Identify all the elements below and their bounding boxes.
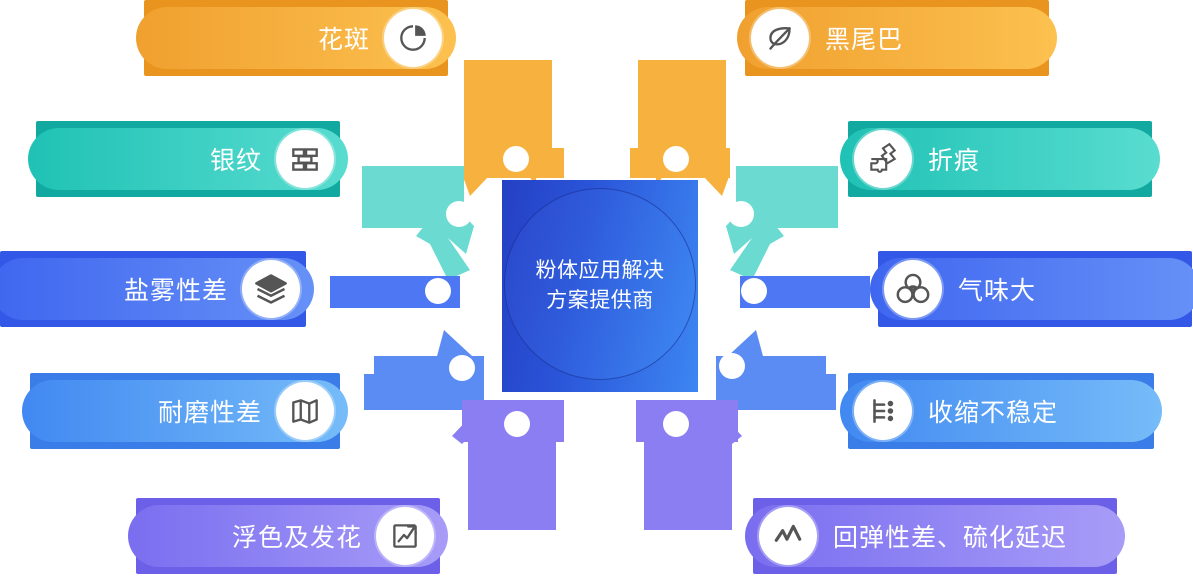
node-pill[interactable]: 折痕 — [840, 128, 1160, 190]
connector-fu-se — [452, 400, 564, 530]
node-pill[interactable]: 耐磨性差 — [22, 380, 348, 442]
node-pill[interactable]: 浮色及发花 — [128, 505, 448, 567]
node-label: 气味大 — [958, 271, 1036, 307]
node-label: 盐雾性差 — [124, 271, 228, 307]
node-fu-se-ji-fa-hua[interactable]: 浮色及发花 — [128, 505, 448, 567]
diagram-canvas: 粉体应用解决 方案提供商 花斑 黑尾巴 — [0, 0, 1193, 577]
connector-yin-wen — [362, 166, 474, 280]
connector-nai-mo — [364, 330, 484, 410]
node-pill[interactable]: 盐雾性差 — [0, 258, 314, 320]
node-yan-wu-xing-cha[interactable]: 盐雾性差 — [0, 258, 314, 320]
node-label: 花斑 — [318, 20, 370, 56]
node-pill[interactable]: 花斑 — [136, 7, 456, 69]
pie-chart-icon — [384, 9, 442, 67]
node-yin-wen[interactable]: 银纹 — [28, 128, 348, 190]
connector-hui-tan — [636, 400, 742, 530]
node-zhe-hen[interactable]: 折痕 — [840, 128, 1160, 190]
node-label: 折痕 — [928, 141, 980, 177]
node-hua-ban[interactable]: 花斑 — [136, 7, 456, 69]
node-pill[interactable]: 气味大 — [870, 258, 1193, 320]
line-chart-icon — [759, 507, 817, 565]
layers-icon — [242, 260, 300, 318]
node-shou-suo-bu-wen-ding[interactable]: 收缩不稳定 — [840, 380, 1162, 442]
connector-hua-ban — [462, 60, 564, 196]
puzzle-icon — [854, 130, 912, 188]
node-label: 银纹 — [210, 141, 262, 177]
leaf-icon — [751, 9, 809, 67]
connector-qi-wei — [740, 276, 870, 308]
trend-box-icon — [376, 507, 434, 565]
node-label: 耐磨性差 — [158, 393, 262, 429]
sitemap-icon — [854, 382, 912, 440]
center-node[interactable]: 粉体应用解决 方案提供商 — [502, 180, 698, 392]
connector-shou-suo — [716, 330, 836, 410]
node-label: 回弹性差、硫化延迟 — [833, 518, 1067, 554]
node-qi-wei-da[interactable]: 气味大 — [870, 258, 1193, 320]
brick-wall-icon — [276, 130, 334, 188]
node-hui-tan-xing-cha[interactable]: 回弹性差、硫化延迟 — [745, 505, 1125, 567]
node-nai-mo-xing-cha[interactable]: 耐磨性差 — [22, 380, 348, 442]
connector-yan-wu — [330, 276, 460, 308]
node-label: 浮色及发花 — [232, 518, 362, 554]
center-label: 粉体应用解决 方案提供商 — [502, 256, 698, 316]
connector-hei-wei-ba — [630, 60, 730, 196]
node-hei-wei-ba[interactable]: 黑尾巴 — [737, 7, 1057, 69]
node-pill[interactable]: 银纹 — [28, 128, 348, 190]
node-label: 收缩不稳定 — [928, 393, 1058, 429]
recycle-icon — [884, 260, 942, 318]
node-label: 黑尾巴 — [825, 20, 903, 56]
map-book-icon — [276, 382, 334, 440]
node-pill[interactable]: 回弹性差、硫化延迟 — [745, 505, 1125, 567]
node-pill[interactable]: 收缩不稳定 — [840, 380, 1162, 442]
node-pill[interactable]: 黑尾巴 — [737, 7, 1057, 69]
connector-zhe-hen — [726, 166, 838, 280]
